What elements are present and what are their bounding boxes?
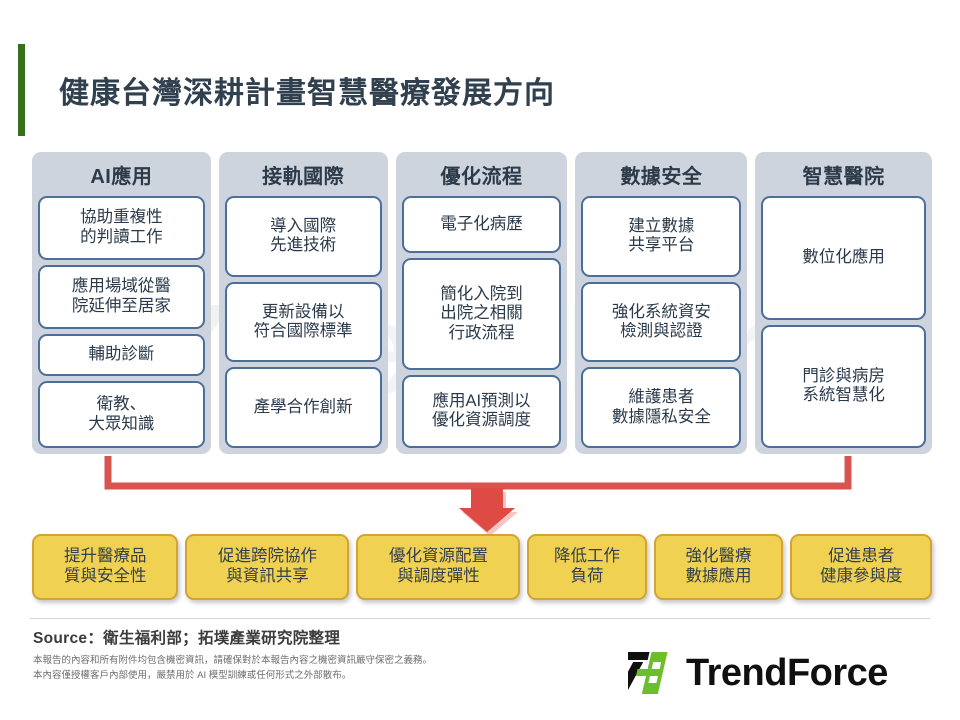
outcome-box[interactable]: 降低工作 負荷 [527,534,646,600]
pillar-header: 數據安全 [581,158,741,196]
outcome-box[interactable]: 優化資源配置 與調度彈性 [356,534,520,600]
pillar-header: 智慧醫院 [761,158,926,196]
pillar-column-international: 接軌國際 導入國際 先進技術 更新設備以 符合國際標準 產學合作創新 [219,152,388,454]
pillar-header: AI應用 [38,158,205,196]
pillar-item[interactable]: 輔助診斷 [38,334,205,377]
pillar-column-smart-hospital: 智慧醫院 數位化應用 門診與病房 系統智慧化 [755,152,932,454]
pillar-item-list: 導入國際 先進技術 更新設備以 符合國際標準 產學合作創新 [225,196,382,448]
trendforce-mark-icon [628,650,676,696]
pillar-column-process: 優化流程 電子化病歷 簡化入院到 出院之相關 行政流程 應用AI預測以 優化資源… [396,152,568,454]
down-arrow-icon [459,488,518,536]
trendforce-logo: TrendForce [628,646,930,700]
disclaimer-text: 本報告的內容和所有附件均包含機密資訊，請確保對於本報告內容之機密資訊嚴守保密之義… [33,654,432,683]
pillar-column-security: 數據安全 建立數據 共享平台 強化系統資安 檢測與認證 維護患者 數據隱私安全 [575,152,747,454]
pillar-item[interactable]: 數位化應用 [761,196,926,320]
pillar-item[interactable]: 應用AI預測以 優化資源調度 [402,375,562,448]
outcome-row: 提升醫療品 質與安全性 促進跨院協作 與資訊共享 優化資源配置 與調度彈性 降低… [32,534,932,600]
pillar-item[interactable]: 強化系統資安 檢測與認證 [581,282,741,363]
pillar-item[interactable]: 門診與病房 系統智慧化 [761,325,926,449]
pillar-header: 優化流程 [402,158,562,196]
pillar-item[interactable]: 電子化病歷 [402,196,562,253]
outcome-box[interactable]: 強化醫療 數據應用 [654,534,784,600]
pillar-item[interactable]: 維護患者 數據隱私安全 [581,367,741,448]
pillar-column-ai: AI應用 協助重複性 的判讀工作 應用場域從醫 院延伸至居家 輔助診斷 衛教、 … [32,152,211,454]
pillar-item-list: 電子化病歷 簡化入院到 出院之相關 行政流程 應用AI預測以 優化資源調度 [402,196,562,448]
pillar-columns: AI應用 協助重複性 的判讀工作 應用場域從醫 院延伸至居家 輔助診斷 衛教、 … [32,152,932,454]
pillar-header: 接軌國際 [225,158,382,196]
pillar-item-list: 數位化應用 門診與病房 系統智慧化 [761,196,926,448]
pillar-item[interactable]: 導入國際 先進技術 [225,196,382,277]
connector-line [108,456,848,486]
title-block: 健康台灣深耕計畫智慧醫療發展方向 [18,44,555,136]
pillar-item-list: 建立數據 共享平台 強化系統資安 檢測與認證 維護患者 數據隱私安全 [581,196,741,448]
pillar-item[interactable]: 簡化入院到 出院之相關 行政流程 [402,258,562,369]
pillar-item[interactable]: 應用場域從醫 院延伸至居家 [38,265,205,329]
pillar-item[interactable]: 協助重複性 的判讀工作 [38,196,205,260]
page-title: 健康台灣深耕計畫智慧醫療發展方向 [59,68,555,112]
footer-divider [30,618,930,619]
pillar-item[interactable]: 更新設備以 符合國際標準 [225,282,382,363]
outcome-box[interactable]: 促進跨院協作 與資訊共享 [185,534,349,600]
source-line: Source：衛生福利部；拓墣產業研究院整理 [33,626,340,648]
outcome-box[interactable]: 促進患者 健康參與度 [790,534,932,600]
pillar-item[interactable]: 衛教、 大眾知識 [38,381,205,448]
trendforce-wordmark: TrendForce [686,654,888,692]
pillar-item[interactable]: 產學合作創新 [225,367,382,448]
outcome-box[interactable]: 提升醫療品 質與安全性 [32,534,178,600]
pillar-item-list: 協助重複性 的判讀工作 應用場域從醫 院延伸至居家 輔助診斷 衛教、 大眾知識 [38,196,205,448]
pillar-item[interactable]: 建立數據 共享平台 [581,196,741,277]
slide-canvas: 7TrendForce 健康台灣深耕計畫智慧醫療發展方向 AI應用 協助重複性 … [0,0,960,720]
title-accent-bar [18,44,25,136]
